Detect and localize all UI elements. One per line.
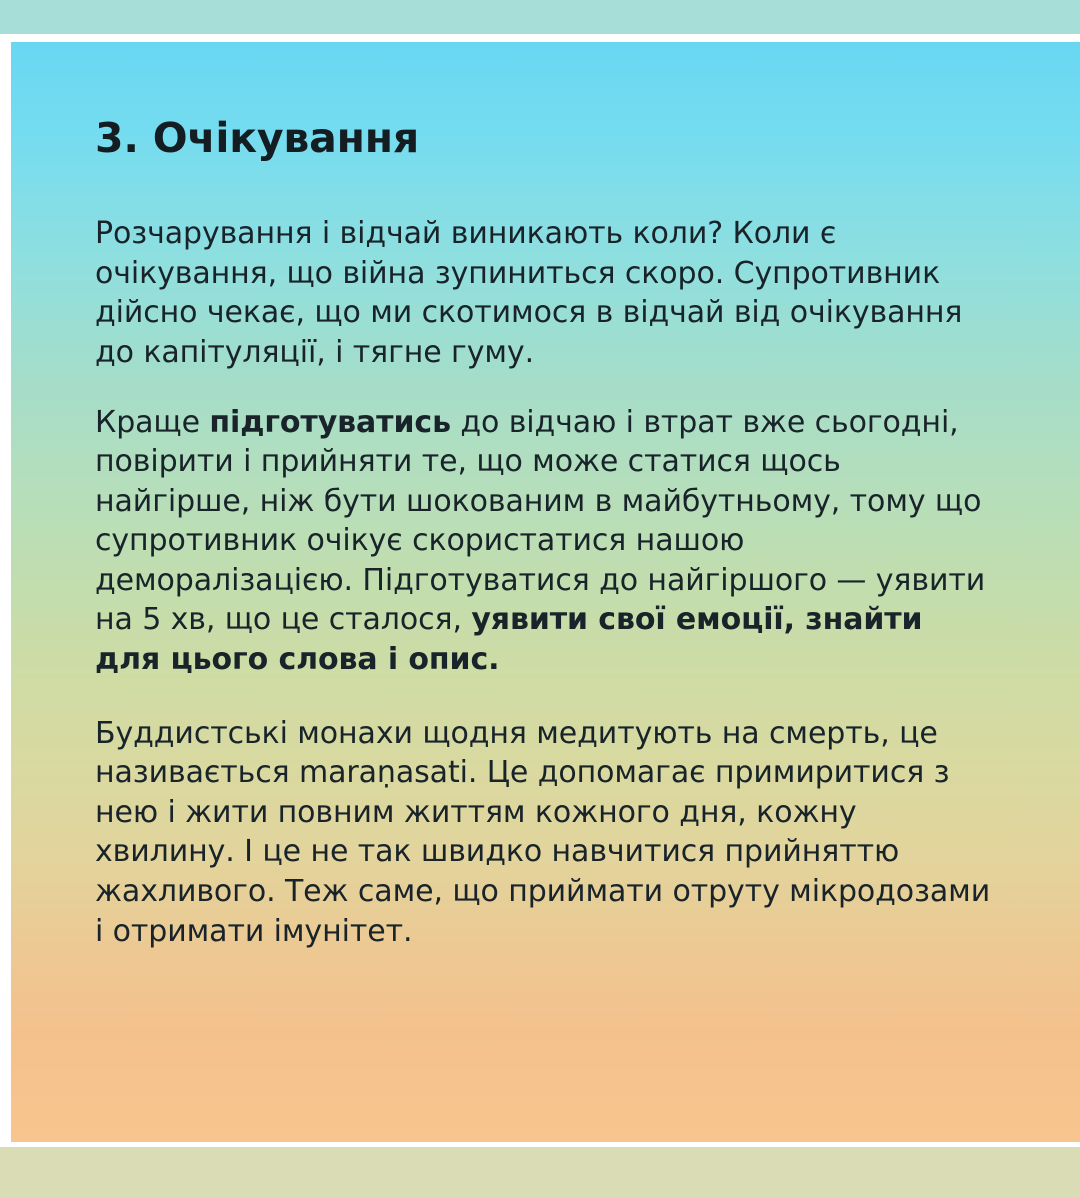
slide-content: 3. Очікування Розчарування і відчай вини…	[95, 115, 995, 951]
body-text: Буддистські монахи щодня медитують на см…	[95, 716, 990, 949]
body-text: Розчарування і відчай виникають коли? Ко…	[95, 216, 962, 370]
body-text: Краще	[95, 405, 209, 440]
previous-slide-edge-strip	[0, 0, 1080, 34]
slide-canvas: 3. Очікування Розчарування і відчай вини…	[0, 0, 1080, 1197]
paragraph-preparation: Краще підготуватись до відчаю і втрат вж…	[95, 403, 995, 680]
next-slide-edge-strip	[0, 1147, 1080, 1197]
paragraph-intro: Розчарування і відчай виникають коли? Ко…	[95, 214, 995, 372]
slide-card: 3. Очікування Розчарування і відчай вини…	[11, 42, 1080, 1142]
page-title: 3. Очікування	[95, 115, 995, 162]
emphasis-text: підготуватись	[209, 405, 451, 440]
paragraph-maranasati: Буддистські монахи щодня медитують на см…	[95, 714, 995, 952]
